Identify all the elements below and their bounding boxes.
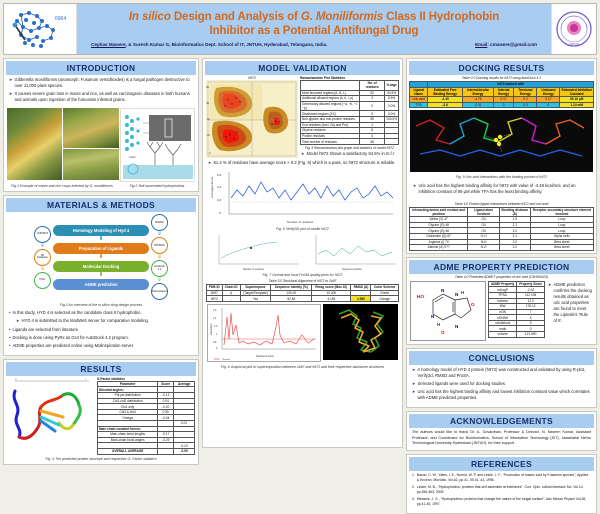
intro-bullet-2-text: It causes severe grain loss in maize and… — [15, 91, 193, 103]
acknowledgements-heading: ACKNOWLEDGEMENTS — [409, 414, 594, 428]
methods-bullet-4: • Docking is done using PyRx as GUI for … — [9, 335, 193, 341]
docking-tbody: Uric acid-4.49-4.760.170.30.1799.16 µMTF… — [410, 97, 594, 108]
rama-th-pct: %-tage — [385, 81, 399, 91]
docking-cell: -2.91 — [462, 102, 493, 108]
uric-acid-structure: HO N N N O N O H H — [410, 281, 486, 341]
rama-stats-table: No. of residues %-tage Most favoured reg… — [300, 80, 399, 145]
superposition-3d-figure — [323, 304, 398, 360]
align-header-cell: RMSD (Å) — [351, 285, 371, 291]
methods-panel: MATERIALS & METHODS UNIPROT ⤋ 3D Databas… — [3, 195, 199, 355]
bullet-marker-icon: ➤ — [413, 183, 417, 195]
ramachandran-plot: 18013590 450 — [206, 80, 298, 158]
molecule-network-logo-icon: 6964 — [9, 7, 71, 51]
validation-note-2-wrap: ➤ 81.2 % of residues have average score … — [205, 160, 400, 166]
interaction-header-cell: Ligand atom involved — [468, 207, 500, 217]
reference-number: 2. — [412, 485, 415, 495]
interaction-header-cell: Receptor secondary structure element inv… — [530, 207, 593, 217]
figure-protein-ribbon: NC — [7, 377, 95, 449]
fig2-caption: Fig.2 Self-assembled hydrophobins — [118, 183, 196, 189]
docking-cell: -2.6 — [428, 102, 463, 108]
verify3d-plot-svg: 0.60.40.2 0 Number of residues Averaged … — [207, 168, 400, 226]
rama-th-residues: No. of residues — [360, 81, 385, 91]
bullet-marker-icon: ➤ — [412, 389, 416, 401]
figure-rice-photo-1 — [63, 108, 119, 148]
intro-bullet-1: ➤ Gibberella moniliformis (anamorph: Fus… — [9, 77, 193, 89]
docking-note-wrap: ➤ Uric acid has the highest binding affi… — [410, 181, 593, 199]
node-uniprot: UNIPROT — [34, 226, 51, 243]
flow-step-adme-prediction: ADME prediction — [53, 279, 149, 290]
page-title: In silico Design and Analysis of G. Moni… — [129, 11, 499, 38]
docking-thead: h972 docked with Ligand NameEstimated Fr… — [410, 82, 594, 97]
conclusion-2: ➤ Selected ligands were used for docking… — [412, 381, 591, 387]
bullet-marker-icon: ➤ — [208, 160, 212, 166]
docking-note: ➤ Uric acid has the highest binding affi… — [410, 181, 593, 199]
ramachandran-plot-svg: 18013590 450 — [206, 80, 298, 158]
reference-number: 3. — [412, 497, 415, 507]
intro-captions: Fig.1 Example of maize and rice crops in… — [6, 183, 196, 189]
reference-text: Bacon, C. W., Yates, I. E., Normd, W. P.… — [417, 473, 591, 483]
reference-item: 2.Linder, M. B., "Hydrophobins: proteins… — [412, 485, 591, 495]
adme-table: ADME Property Property Score miLogP-2.02… — [488, 281, 545, 338]
arrow-down-icon: ⬇ — [98, 237, 103, 242]
methods-bullets: • In this study, HYD 4 is selected as th… — [6, 308, 196, 352]
bullet-marker-icon: ➤ — [9, 91, 13, 103]
rama-pct — [385, 139, 399, 145]
methods-flowchart: UNIPROT ⤋ 3D Database ⤋ PyRx Homology Mo… — [6, 212, 196, 302]
adme-note: ➤ ADME prediction confirms the docking r… — [547, 281, 593, 328]
gfactor-average: -0.09 — [174, 448, 195, 454]
docking-header-cell: Estimated Inhibition Constant — [560, 87, 594, 97]
intro-bullet-1-text: Gibberella moniliformis (anamorph: Fusar… — [15, 77, 193, 89]
svg-text:6964: 6964 — [55, 16, 66, 22]
interaction-header-cell: Bonding distance (Å) — [499, 207, 530, 217]
fig4-caption: Fig. 4 The predicted protein structure a… — [6, 456, 196, 462]
flow-step-homology-modeling: Homology Modeling of Hyd 4 — [53, 225, 149, 236]
rama-stats-wrap: Ramachandran Plot Statistics No. of resi… — [300, 76, 399, 159]
flowchart-right-nodes: MolWeb ⤋ PRODRG ⤋ AutoDock 4.2 ⤋ Molinsp… — [151, 214, 168, 300]
bullet-marker-icon: ➤ — [412, 381, 416, 387]
node-3d-database: 3D Database — [34, 249, 51, 266]
gfactor-score — [158, 448, 174, 454]
reference-text: Wessels, J. G., "Hydrophobins: proteins … — [417, 497, 591, 507]
authors-rest: , & Suresh Kumar G, Bioinformatics Dept.… — [126, 42, 328, 47]
verify3d-plot: 0.60.40.2 0 Number of residues Averaged … — [207, 168, 398, 226]
conclusion-2-text: Selected ligands were used for docking s… — [418, 381, 506, 387]
email-label: Email — [475, 42, 487, 47]
chevron-down-icon: ⤋ — [40, 267, 44, 271]
methods-bullet-1: • In this study, HYD 4 is selected as th… — [9, 310, 193, 316]
align-cell: 4.199 — [312, 296, 351, 302]
methods-bullet-3-text: Ligands are selected from literature — [12, 327, 78, 333]
docking-panel: DOCKING RESULTS Table 2.0 Docking result… — [406, 58, 597, 254]
adme-table-wrap: ADME Property Property Score miLogP-2.02… — [488, 281, 545, 341]
gfactor-param: OVERALL AVERAGE — [98, 448, 158, 454]
adme-property: volume — [489, 332, 517, 338]
docking-notes-row: ➤ Uric acid has the highest binding affi… — [409, 180, 594, 200]
docking-header-cell: Ligand Name — [410, 87, 428, 97]
superposition-plot: 1.61.41.2 10.80 Residue Number Resolutio… — [207, 304, 321, 362]
email-line[interactable]: Email: cmawere@gmail.com — [475, 42, 537, 47]
poster-columns: INTRODUCTION ➤ Gibberella moniliformis (… — [3, 58, 597, 448]
conclusion-1: ➤ A homology model of HYD 4 protein (h97… — [412, 367, 591, 379]
reference-text: Linder, M. B., "Hydrophobins: proteins t… — [417, 485, 591, 495]
gfactor-tbody: Dihedral angles:Phi-psi distribution-0.1… — [98, 387, 195, 454]
bullet-marker-icon: • — [9, 310, 10, 316]
validation-panel: MODEL VALIDATION h972 — [202, 58, 403, 448]
results-panel: RESULTS — [3, 359, 199, 465]
table-row: h972-Yes52.844.1991.550Orange — [207, 296, 399, 302]
hydrophobin-assembly-svg: rodlet — [121, 109, 195, 181]
title-insilico: In silico — [129, 11, 171, 23]
reference-item: 3.Wessels, J. G., "Hydrophobins: protein… — [412, 497, 591, 507]
protein-ribbon-svg: NC — [7, 377, 95, 449]
svg-text:0.4: 0.4 — [217, 185, 222, 189]
align-cell: h972 — [207, 296, 223, 302]
conclusion-3: ➤ Uric acid has the highest binding affi… — [412, 389, 591, 401]
docking-header-cell: Internal Energy — [493, 87, 513, 97]
methods-bullet-5: • ADME properties are predicted online u… — [9, 343, 193, 349]
title-line2: Inhibitor as a Potential Antifungal Drug — [210, 25, 419, 37]
methods-heading: MATERIALS & METHODS — [6, 198, 196, 212]
svg-text:Resolution: Resolution — [210, 323, 213, 335]
flow-step-ligand-preparation: Preparation of Ligands — [53, 243, 149, 254]
poster-header: 6964 In silico Design and Analysis of G.… — [3, 3, 597, 55]
interaction-header-row: Interacting amino acid residue and posit… — [410, 207, 594, 217]
ramachandran-figure: h972 — [206, 76, 298, 159]
methods-bullet-2: ➤ HYD 4 is submitted to the ModWeb serve… — [16, 318, 193, 324]
prosa-local-svg: Sequence position — [304, 232, 399, 272]
table-row: Total number of residues68 — [301, 139, 399, 145]
title-suffix: Class II Hydrophobin — [383, 11, 499, 23]
svg-text:Sequence position: Sequence position — [342, 268, 362, 271]
reference-number: 1. — [412, 473, 415, 483]
flowchart-steps: Homology Modeling of Hyd 4 ⬇ Preparation… — [53, 225, 149, 290]
svg-text:Chain A: Chain A — [222, 358, 230, 361]
intro-bullet-2: ➤ It causes severe grain loss in maize a… — [9, 91, 193, 103]
superposition-3d-svg — [323, 304, 398, 360]
docking-heading: DOCKING RESULTS — [409, 61, 594, 75]
adme-note-bullet: ➤ ADME prediction confirms the docking r… — [548, 282, 592, 325]
svg-text:JNTUH: JNTUH — [569, 42, 579, 46]
author-main: Cephas Mawere — [91, 42, 126, 47]
interaction-cell: Alanine (A) 9?? — [410, 245, 468, 251]
adme-content: HO N N N O N O H H — [409, 280, 594, 342]
svg-text:O: O — [441, 330, 445, 335]
arrow-down-icon: ⬇ — [98, 255, 103, 260]
fig1-caption: Fig.1 Example of maize and rice crops in… — [6, 183, 118, 189]
adme-th-property: ADME Property — [489, 281, 517, 287]
docking-cell: 0 — [537, 102, 560, 108]
alignment-table: PDB IDChain IDSuperimposeSequence identi… — [206, 284, 399, 302]
align-cell: 1.550 — [351, 296, 371, 302]
introduction-panel: INTRODUCTION ➤ Gibberella moniliformis (… — [3, 58, 199, 192]
docking-header-cell: Unbound Energy — [537, 87, 560, 97]
docking-table: h972 docked with Ligand NameEstimated Fr… — [409, 81, 594, 108]
methods-bullet-4-text: Docking is done using PyRx as GUI for Au… — [12, 335, 128, 341]
column-right: DOCKING RESULTS Table 2.0 Docking result… — [406, 58, 597, 448]
references-list: 1.Bacon, C. W., Yates, I. E., Normd, W. … — [409, 471, 594, 511]
docking-cell: TFA — [410, 102, 428, 108]
align-header-cell: Chain ID — [222, 285, 240, 291]
table-row: TFA-2.6-2.9100.301.24 mM — [410, 102, 594, 108]
column-left: INTRODUCTION ➤ Gibberella moniliformis (… — [3, 58, 199, 448]
figure-hydrophobin-diagram: rodlet — [120, 108, 195, 182]
adme-heading: ADME PROPERTY PREDICTION — [409, 260, 594, 274]
interaction-cell: 2.2 — [499, 245, 530, 251]
docking-note-1-text: Uric acid has the highest binding affini… — [419, 183, 590, 195]
docking-header-cell: Torsional Energy — [514, 87, 537, 97]
right-logo: JNTUH — [551, 4, 596, 54]
align-cell: Yes — [240, 296, 271, 302]
rama-label: Generously allowed regions [~a, ~b, ~l, … — [301, 101, 360, 111]
align-cell: - — [222, 296, 240, 302]
references-heading: REFERENCES — [409, 457, 594, 471]
left-logo: 6964 — [4, 4, 77, 54]
email-value: : cmawere@gmail.com — [487, 42, 537, 47]
validation-top: h972 — [205, 75, 400, 160]
adme-note-text: ADME prediction confirms the docking res… — [554, 282, 592, 325]
interaction-thead: Interacting amino acid residue and posit… — [410, 207, 594, 217]
figure-rice-stack — [63, 108, 119, 182]
author-line: Cephas Mawere, & Suresh Kumar G, Bioinfo… — [81, 42, 547, 47]
chevron-down-icon: ⤋ — [157, 232, 161, 236]
node-molinspiration: Molinspiration — [151, 283, 168, 300]
methods-bullet-2-text: HYD 4 is submitted to the ModWeb server … — [22, 318, 149, 324]
docking-header-cell: Intermolecular Energy — [462, 87, 493, 97]
table-row: OVERALL AVERAGE-0.09 — [98, 448, 195, 454]
gfactor-table: Parameter Score Average Dihedral angles:… — [97, 381, 195, 455]
interaction-cell: Beta sheet — [530, 245, 593, 251]
figure-rice-photo-2 — [63, 149, 119, 180]
introduction-heading: INTRODUCTION — [6, 61, 196, 75]
svg-text:rodlet: rodlet — [129, 155, 136, 159]
adme-th-score: Property Score — [517, 281, 545, 287]
superposition-plot-svg: 1.61.41.2 10.80 Residue Number Resolutio… — [208, 305, 320, 361]
validation-note-2-text: 81.2 % of residues have average score > … — [214, 160, 396, 166]
adme-tbody: miLogP-2.02TPSA112.105natoms12.0MW176.12… — [489, 287, 545, 337]
adme-panel: ADME PROPERTY PREDICTION Table 4.0 Predi… — [406, 257, 597, 345]
svg-text:Averaged Score: Averaged Score — [210, 176, 214, 198]
figure-maize-photo — [7, 108, 62, 180]
methods-bullet-5-text: ADME properties are predicted online usi… — [12, 343, 134, 349]
interaction-header-cell: Interacting amino acid residue and posit… — [410, 207, 468, 217]
rama-thead: No. of residues %-tage — [301, 81, 399, 91]
methods-bullet-3: • Ligands are selected from literature — [9, 327, 193, 333]
gfactor-table-wrap: G-Factor statistics Parameter Score Aver… — [97, 377, 195, 455]
table-row: Alanine (A) 9??N-O2.2Beta sheet — [410, 245, 594, 251]
flowchart-left-nodes: UNIPROT ⤋ 3D Database ⤋ PyRx — [34, 226, 51, 289]
svg-text:Number of residues: Number of residues — [243, 268, 265, 271]
rama-count: 0 — [360, 101, 385, 111]
rama-count: 68 — [360, 139, 385, 145]
align-cell: [Target/Template] — [240, 290, 271, 296]
validation-heading: MODEL VALIDATION — [205, 61, 400, 75]
svg-text:0.2: 0.2 — [217, 198, 222, 202]
fig8-caption: Fig. 8 Graphical plot of superimposition… — [205, 364, 400, 370]
validation-note-1-text: Model h972 shows a satisfactory 94.5% in… — [307, 151, 395, 157]
validation-note-2: ➤ 81.2 % of residues have average score … — [208, 160, 397, 166]
align-cell: Orange — [371, 296, 399, 302]
bullet-marker-icon: ➤ — [548, 282, 552, 325]
prosa-overall-plot: Number of residues — [207, 232, 302, 272]
prosa-plots: Number of residues Sequence position — [207, 232, 398, 272]
methods-bullet-1-text: In this study, HYD 4 is selected as the … — [12, 310, 141, 316]
docking-header-cell: Estimated Free Binding Energy — [428, 87, 463, 97]
arrow-down-icon: ⬇ — [98, 273, 103, 278]
interaction-table: Interacting amino acid residue and posit… — [409, 207, 594, 251]
table-row: volume121.690 — [489, 332, 545, 338]
align-tbody: 2b97A[Target/Template]100.0010.000Greenh… — [207, 290, 399, 301]
bullet-marker-icon: ➤ — [9, 77, 13, 89]
rama-tbody: Most favoured regions [A, B, L]5294.5%Ad… — [301, 90, 399, 144]
references-panel: REFERENCES 1.Bacon, C. W., Yates, I. E.,… — [406, 454, 597, 514]
interaction-tbody: Valine (V) 47O41.9LoopGlycine (G) 48O42.… — [410, 217, 594, 251]
results-content: NC G-Factor statistics Parameter Score — [6, 376, 196, 456]
title-mid: Design and Analysis of — [171, 11, 301, 23]
prosa-local-plot: Sequence position — [304, 232, 399, 272]
authors-text: Cephas Mawere, & Suresh Kumar G, Bioinfo… — [91, 42, 327, 47]
svg-text:0.6: 0.6 — [217, 173, 222, 177]
superposition-row: 1.61.41.2 10.80 Residue Number Resolutio… — [207, 304, 398, 362]
bullet-marker-icon: ➤ — [301, 151, 305, 157]
rama-pct: 0.0% — [385, 101, 399, 111]
align-header-cell: Sequence identity (%) — [271, 285, 312, 291]
title-block: In silico Design and Analysis of G. Moni… — [77, 4, 551, 54]
docking-cell: 1.24 mM — [560, 102, 594, 108]
adme-note-wrap: ➤ ADME prediction confirms the docking r… — [547, 281, 593, 341]
bullet-marker-icon: • — [9, 343, 10, 349]
align-header-cell: Color Scheme — [371, 285, 399, 291]
bullet-marker-icon: ➤ — [412, 367, 416, 379]
conclusion-3-text: Uric acid has the highest binding affini… — [418, 389, 591, 401]
uric-acid-2d-svg: HO N N N O N O H H — [411, 282, 485, 340]
validation-notes: ➤ Model h972 shows a satisfactory 94.5% … — [300, 151, 399, 157]
column-middle: MODEL VALIDATION h972 — [202, 58, 403, 448]
rama-th-blank — [301, 81, 360, 91]
flowchart-grid: UNIPROT ⤋ 3D Database ⤋ PyRx Homology Mo… — [7, 214, 195, 300]
acknowledgements-panel: ACKNOWLEDGEMENTS The authors would like … — [406, 411, 597, 451]
acknowledgements-text: The authors would like to thank Dr. A. G… — [409, 428, 594, 448]
results-heading: RESULTS — [6, 362, 196, 376]
validation-note-1: ➤ Model h972 shows a satisfactory 94.5% … — [301, 151, 398, 157]
title-species: G. Moniliformis — [301, 11, 383, 23]
bullet-marker-icon: ➤ — [16, 318, 20, 324]
svg-text:HO: HO — [417, 294, 424, 299]
bullet-marker-icon: • — [9, 327, 10, 333]
rama-label: Total number of residues — [301, 139, 360, 145]
rama-pct: 100.0% — [385, 116, 399, 122]
docking-3d-figure — [410, 110, 593, 172]
introduction-body: ➤ Gibberella moniliformis (anamorph: Fus… — [6, 75, 196, 107]
poster-root: 6964 In silico Design and Analysis of G.… — [0, 0, 600, 450]
docking-3d-svg — [410, 110, 593, 172]
rama-header-row: No. of residues %-tage — [301, 81, 399, 91]
docking-cell: 0.3 — [514, 102, 537, 108]
align-cell: 52.84 — [271, 296, 312, 302]
chevron-down-icon: ⤋ — [40, 244, 44, 248]
adme-score: 121.690 — [517, 332, 545, 338]
chevron-down-icon: ⤋ — [157, 255, 161, 259]
node-pyrx: PyRx — [34, 272, 51, 289]
conclusions-body: ➤ A homology model of HYD 4 protein (h97… — [409, 365, 594, 405]
svg-text:O: O — [471, 302, 475, 307]
conclusions-heading: CONCLUSIONS — [409, 351, 594, 365]
flow-step-molecular-docking: Molecular Docking — [53, 261, 149, 272]
table-row: Generously allowed regions [~a, ~b, ~l, … — [301, 101, 399, 111]
docking-header-row: Ligand NameEstimated Free Binding Energy… — [410, 87, 594, 97]
prosa-overall-svg: Number of residues — [207, 232, 302, 272]
node-modweb: MolWeb — [151, 214, 168, 231]
conclusion-1-text: A homology model of HYD 4 protein (h972)… — [418, 367, 591, 379]
rama-label: Non-glycine and non-proline residues — [301, 116, 360, 122]
verify3d-xlabel-text: Number of residues — [287, 220, 314, 224]
bullet-marker-icon: • — [9, 335, 10, 341]
node-prodrg: PRODRG — [151, 237, 168, 254]
docking-cell: 0 — [493, 102, 513, 108]
jntuh-seal-icon: JNTUH — [555, 9, 593, 49]
rama-label: Additional allowed regions [a, b, l, p] — [301, 96, 360, 102]
intro-figures: rodlet — [6, 107, 196, 183]
align-header-cell: Rmsg score (Max 10) — [312, 285, 351, 291]
conclusions-panel: CONCLUSIONS ➤ A homology model of HYD 4 … — [406, 348, 597, 408]
node-autodock: AutoDock 4.2 — [151, 260, 168, 277]
reference-item: 1.Bacon, C. W., Yates, I. E., Normd, W. … — [412, 473, 591, 483]
docking-note-1: ➤ Uric acid has the highest binding affi… — [413, 183, 590, 195]
chevron-down-icon: ⤋ — [157, 278, 161, 282]
svg-text:Residue Number: Residue Number — [256, 355, 274, 358]
interaction-cell: N-O — [468, 245, 500, 251]
